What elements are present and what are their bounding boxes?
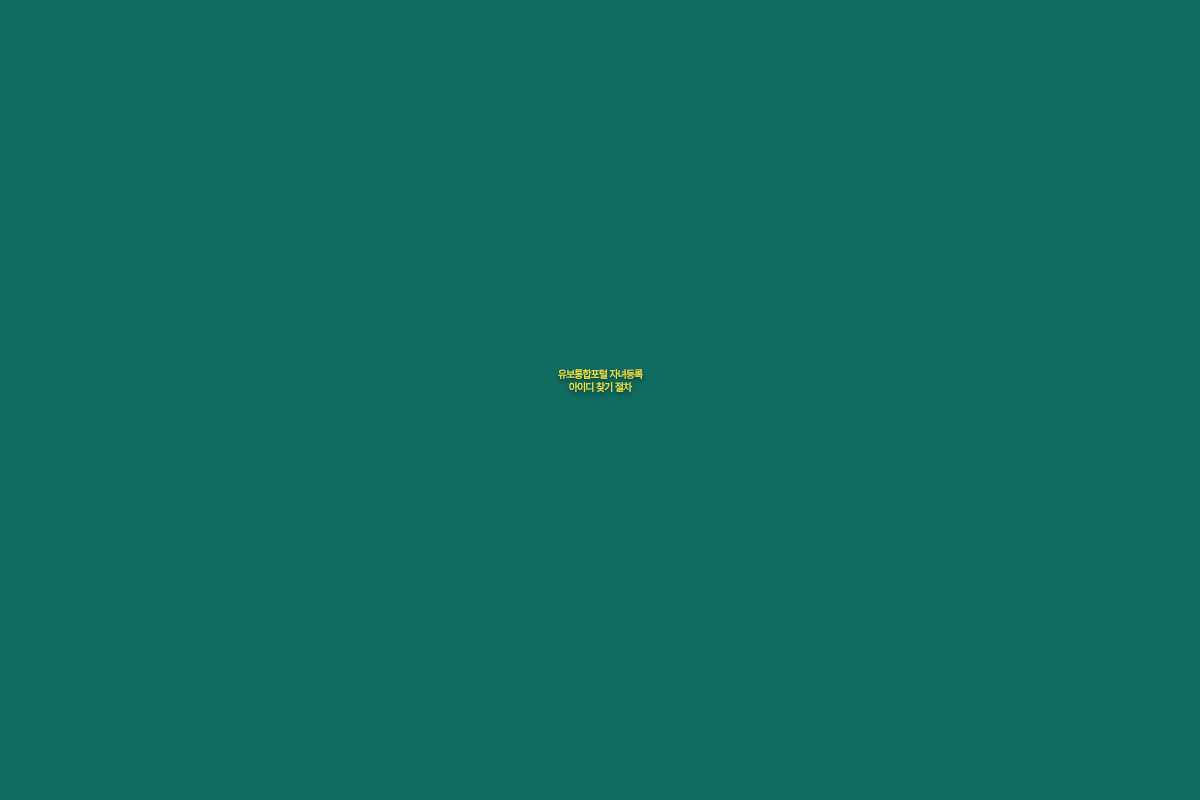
thumbnail-banner: 유보통합포털 자녀등록 아이디 찾기 절차: [0, 0, 1200, 800]
title-block: 유보통합포털 자녀등록 아이디 찾기 절차: [0, 370, 1200, 396]
title-line-2: 아이디 찾기 절차: [0, 383, 1200, 396]
title-line-1: 유보통합포털 자녀등록: [0, 370, 1200, 383]
